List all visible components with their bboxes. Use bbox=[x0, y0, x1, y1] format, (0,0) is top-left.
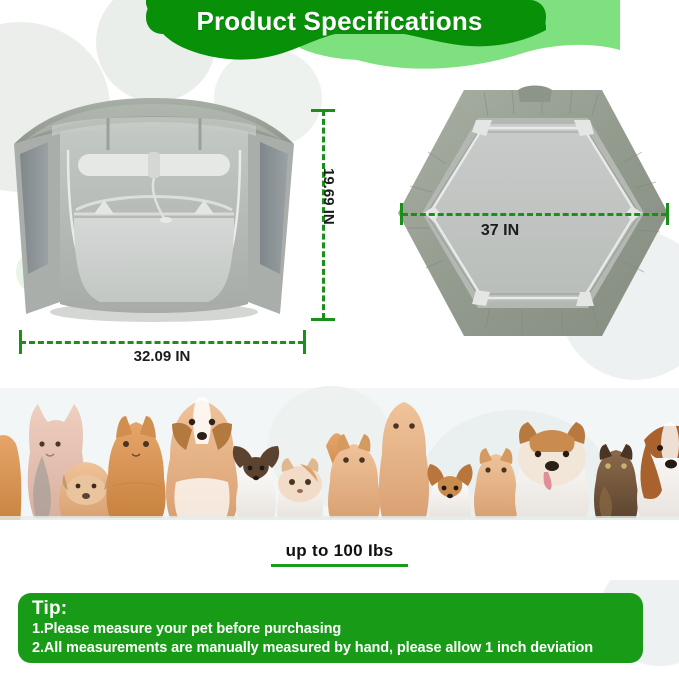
dimension-label-height: 19.69 IN bbox=[320, 168, 337, 225]
pet-beagle-mix-dog bbox=[166, 397, 238, 518]
pet-tortoiseshell-kitten bbox=[594, 444, 638, 518]
pet-tabby-cat-partial bbox=[0, 435, 21, 526]
zipper-tab bbox=[160, 217, 172, 223]
pet-orange-cat-standing bbox=[326, 433, 380, 518]
weight-capacity-label: up to 100 Ibs bbox=[0, 541, 679, 561]
product-image-front-view bbox=[8, 92, 300, 332]
weight-underline bbox=[271, 564, 408, 567]
dimension-label-width: 32.09 IN bbox=[0, 348, 324, 365]
pet-orange-tabby-cat bbox=[106, 416, 165, 518]
pet-ginger-cat-tall bbox=[379, 402, 429, 518]
tip-line-2: 2.All measurements are manually measured… bbox=[32, 639, 629, 658]
header-banner: Product Specifications bbox=[0, 0, 679, 76]
rim-top-notch bbox=[518, 86, 552, 103]
playpen-floor bbox=[74, 218, 234, 302]
dim-line-width bbox=[20, 341, 304, 344]
pet-cavalier-king-charles-puppy bbox=[427, 464, 472, 518]
pet-chihuahua-longhair bbox=[233, 446, 279, 518]
tip-title: Tip: bbox=[32, 598, 629, 620]
weight-capacity: up to 100 Ibs bbox=[0, 541, 679, 567]
tip-line-1: 1.Please measure your pet before purchas… bbox=[32, 620, 629, 639]
base-shadow bbox=[50, 302, 258, 322]
flap-strap bbox=[148, 152, 160, 178]
pet-orange-kitten bbox=[474, 448, 518, 518]
banner-dark-top bbox=[146, 0, 546, 34]
dim-line-diameter bbox=[402, 213, 667, 216]
pet-basset-hound bbox=[637, 422, 679, 518]
tip-box: Tip: 1.Please measure your pet before pu… bbox=[18, 593, 643, 663]
dimension-label-diameter: 37 IN bbox=[400, 222, 600, 240]
pet-lineup-image bbox=[0, 386, 679, 538]
pet-exotic-shorthair-cat bbox=[277, 458, 323, 518]
pet-english-bulldog bbox=[515, 422, 589, 518]
